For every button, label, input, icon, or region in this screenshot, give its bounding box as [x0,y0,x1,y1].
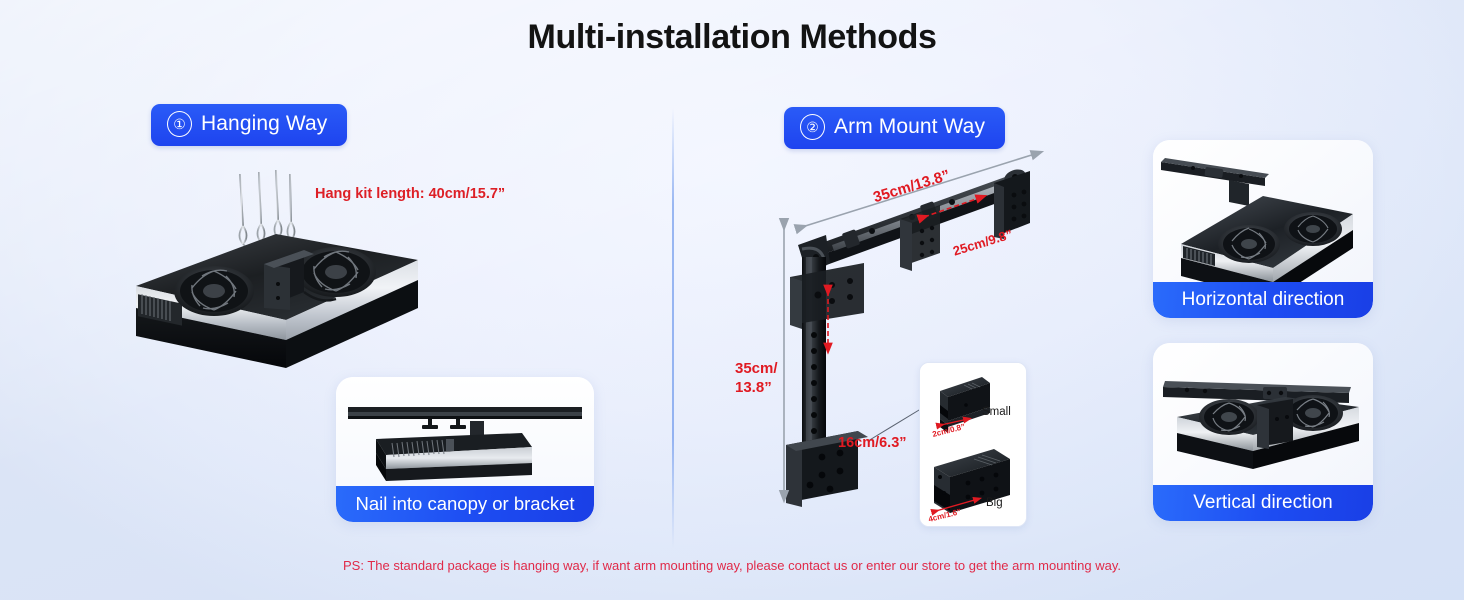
cooling-fan-left [174,266,254,316]
post-height-line2: 13.8” [735,379,772,396]
badge-number-icon: ② [800,114,825,140]
page-title: Multi-installation Methods [0,18,1464,57]
arrow-bracket-spacing [924,197,982,217]
card-horizontal-direction[interactable]: Horizontal direction [1153,140,1373,318]
dimension-label-post-height: 35cm/ 13.8” [735,359,778,397]
cooling-fan-back [1284,212,1342,246]
bracket-size-label-small: Small [982,406,1011,418]
section-divider [672,108,674,548]
badge-label: Hanging Way [201,112,327,136]
mount-stem [1229,180,1249,206]
badge-number-icon: ① [167,111,192,137]
card-nail-into-canopy[interactable]: Nail into canopy or bracket [336,377,594,522]
cooling-fan-left [1199,399,1259,435]
fixture-body [376,433,532,481]
section-badge-hanging-way[interactable]: ① Hanging Way [151,104,347,146]
card-caption: Vertical direction [1153,485,1373,521]
cooling-fan-front [1218,225,1280,263]
center-mount-bracket [1257,399,1293,449]
bracket-size-panel[interactable]: Small 2cm/0.8” Big 4cm/1.6” [919,362,1027,527]
infographic-canvas: Multi-installation Methods ① Hanging Way [0,0,1464,600]
card-vertical-direction[interactable]: Vertical direction [1153,343,1373,521]
footer-note: PS: The standard package is hanging way,… [0,558,1464,573]
section-badge-arm-mount-way[interactable]: ② Arm Mount Way [784,107,1005,149]
badge-label: Arm Mount Way [834,115,985,139]
post-height-line1: 35cm/ [735,360,778,377]
bracket-panel-graphic [920,363,1026,526]
hanging-fixture-illustration [118,168,428,398]
hang-kit-length-annotation: Hang kit length: 40cm/15.7” [315,186,505,202]
bracket-size-label-big: Big [986,497,1003,509]
card-caption: Nail into canopy or bracket [336,486,594,522]
canopy-panel [348,407,582,419]
dimension-label-clamp-travel: 16cm/6.3” [838,435,907,451]
card-caption: Horizontal direction [1153,282,1373,318]
